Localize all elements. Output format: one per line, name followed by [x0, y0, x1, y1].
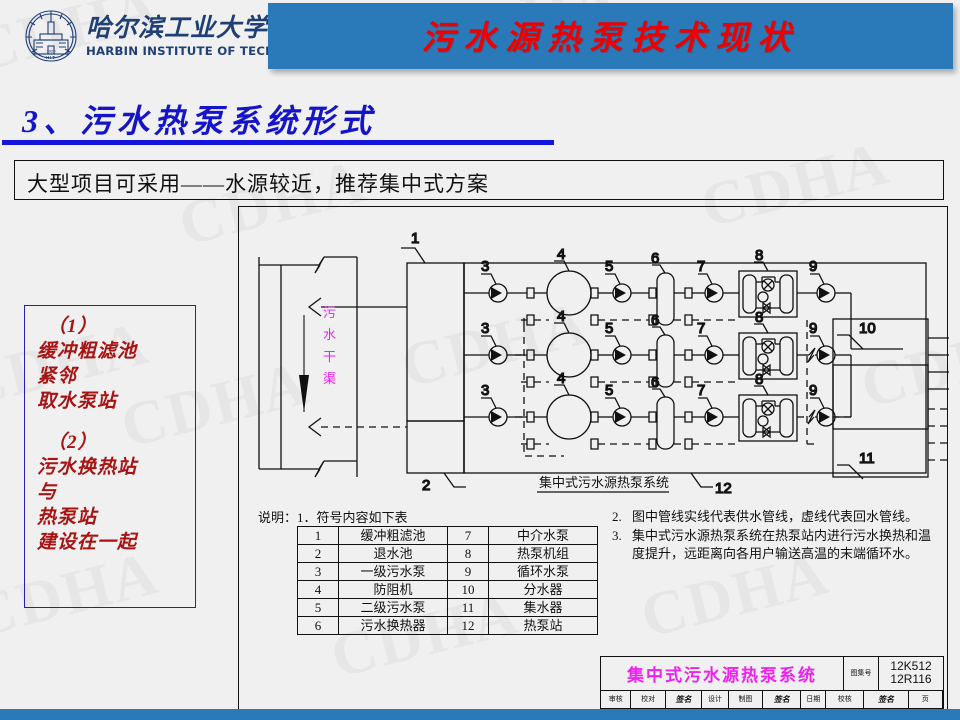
note-line: （1） — [25, 314, 195, 339]
tb-field-校对: 校对 — [631, 691, 665, 708]
callout-4: 4 — [557, 370, 565, 387]
callout-7: 7 — [697, 382, 705, 399]
left-note-box: （1） 缓冲粗滤池 紧邻 取水泵站 （2） 污水换热站 与 热泵站 建设在一起 — [24, 305, 196, 608]
symbol-legend-table: 1 缓冲粗滤池 7 中介水泵 2 退水池 8 热泵机组 3 一级污水泵 9 循环… — [297, 526, 598, 635]
legend-number: 3 — [298, 563, 339, 581]
legend-number: 12 — [448, 617, 489, 635]
svg-text:水: 水 — [323, 327, 336, 342]
legend-label: 中介水泵 — [489, 527, 598, 545]
page-title: 3、污水热泵系统形式 — [22, 96, 376, 142]
title-banner: 污水源热泵技术现状 — [268, 3, 953, 69]
callout-5: 5 — [605, 258, 613, 275]
note-line: 缓冲粗滤池 — [25, 339, 195, 364]
callout-6: 6 — [651, 374, 659, 391]
title-block-top-row: 集中式污水源热泵系统 图集号 12K512 12R116 — [601, 657, 943, 691]
table-row: 2 退水池 8 热泵机组 — [298, 545, 598, 563]
callout-8: 8 — [755, 371, 763, 388]
legend-number: 11 — [448, 599, 489, 617]
legend-caption: 说明：1．符号内容如下表 — [258, 507, 408, 526]
legend-label: 二级污水泵 — [339, 599, 448, 617]
legend-number: 9 — [448, 563, 489, 581]
title-banner-text: 污水源热泵技术现状 — [268, 11, 953, 59]
callout-8: 8 — [755, 247, 763, 264]
table-row: 5 二级污水泵 11 集水器 — [298, 599, 598, 617]
callout-3: 3 — [481, 382, 489, 399]
note-item: 3. 集中式污水源热泵系统在热泵站内进行污水换热和温度提升，远距离向各用户输送高… — [612, 527, 942, 563]
callout-6: 6 — [651, 312, 659, 329]
callout-4: 4 — [557, 308, 565, 325]
table-row: 1 缓冲粗滤池 7 中介水泵 — [298, 527, 598, 545]
tb-signature-3: 签名 — [864, 691, 908, 708]
logo-chinese-name: 哈尔滨工业大学 — [86, 8, 268, 44]
callout-6: 6 — [651, 250, 659, 267]
callout-3: 3 — [481, 320, 489, 337]
diagram-caption: 集中式污水源热泵系统 — [539, 475, 669, 490]
callout-11: 11 — [859, 450, 875, 467]
university-logo: 1920 HIT 哈尔滨工业大学 HARBIN INSTITUTE OF TEC… — [6, 4, 264, 72]
drawing-code-values: 12K512 12R116 — [879, 657, 943, 690]
callout-9: 9 — [809, 258, 817, 275]
system-schematic-diagram: 1 2 12 — [239, 207, 949, 711]
callout-3: 3 — [481, 258, 489, 275]
svg-text:干: 干 — [323, 349, 336, 364]
legend-label: 热泵站 — [489, 617, 598, 635]
tb-signature-2: 签名 — [763, 691, 801, 708]
note-line: （2） — [25, 430, 195, 455]
legend-number: 7 — [448, 527, 489, 545]
drawing-notes: 2. 图中管线实线代表供水管线，虚线代表回水管线。 3. 集中式污水源热泵系统在… — [612, 508, 942, 564]
tb-page-label: 页 — [909, 691, 943, 708]
note-line: 建设在一起 — [25, 530, 195, 555]
note-number: 3. — [612, 527, 632, 563]
tb-signature-1: 签名 — [666, 691, 702, 708]
drawing-code-label: 图集号 — [844, 657, 879, 690]
callout-5: 5 — [605, 382, 613, 399]
tb-field-日期: 日期 — [801, 691, 826, 708]
channel-label-char: 污 — [323, 305, 336, 320]
note-line: 污水换热站 — [25, 455, 195, 480]
drawing-title-block: 集中式污水源热泵系统 图集号 12K512 12R116 审核 校对 签名 设计… — [600, 656, 944, 709]
table-row: 4 防阻机 10 分水器 — [298, 581, 598, 599]
callout-9: 9 — [809, 382, 817, 399]
note-number: 2. — [612, 508, 632, 526]
callout-5: 5 — [605, 320, 613, 337]
drawing-name: 集中式污水源热泵系统 — [601, 657, 844, 690]
legend-label: 热泵机组 — [489, 545, 598, 563]
legend-label: 缓冲粗滤池 — [339, 527, 448, 545]
legend-number: 1 — [298, 527, 339, 545]
legend-number: 10 — [448, 581, 489, 599]
legend-number: 2 — [298, 545, 339, 563]
legend-label: 污水换热器 — [339, 617, 448, 635]
legend-number: 6 — [298, 617, 339, 635]
tb-field-设计: 设计 — [702, 691, 729, 708]
crest-abbr: HIT — [46, 55, 56, 60]
subtitle-text: 大型项目可采用——水源较近，推荐集中式方案 — [27, 168, 489, 198]
legend-label: 集水器 — [489, 599, 598, 617]
note-item: 2. 图中管线实线代表供水管线，虚线代表回水管线。 — [612, 508, 942, 526]
legend-number: 8 — [448, 545, 489, 563]
note-line: 热泵站 — [25, 505, 195, 530]
legend-label: 防阻机 — [339, 581, 448, 599]
crest-year: 1920 — [47, 49, 57, 54]
legend-label: 分水器 — [489, 581, 598, 599]
hit-crest-icon: 1920 HIT — [20, 8, 82, 68]
callout-12: 12 — [715, 480, 732, 497]
callout-1: 1 — [411, 230, 419, 247]
note-text: 集中式污水源热泵系统在热泵站内进行污水换热和温度提升，远距离向各用户输送高温的末… — [632, 527, 942, 563]
note-line: 紧邻 — [25, 364, 195, 389]
legend-number: 5 — [298, 599, 339, 617]
legend-number: 4 — [298, 581, 339, 599]
table-row: 6 污水换热器 12 热泵站 — [298, 617, 598, 635]
callout-10: 10 — [859, 320, 876, 337]
subtitle-box: 大型项目可采用——水源较近，推荐集中式方案 — [14, 160, 944, 200]
title-block-bottom-row: 审核 校对 签名 设计 制图 签名 日期 校核 签名 页 19 — [601, 691, 943, 708]
table-row: 3 一级污水泵 9 循环水泵 — [298, 563, 598, 581]
legend-label: 退水池 — [339, 545, 448, 563]
code-line-2: 12R116 — [890, 673, 931, 686]
callout-4: 4 — [557, 246, 565, 263]
note-line: 取水泵站 — [25, 389, 195, 414]
callout-2: 2 — [422, 477, 430, 494]
svg-text:渠: 渠 — [323, 371, 336, 386]
bottom-accent-bar — [0, 709, 960, 720]
callout-7: 7 — [697, 258, 705, 275]
note-spacer — [25, 414, 195, 430]
note-line: 与 — [25, 480, 195, 505]
legend-label: 循环水泵 — [489, 563, 598, 581]
callout-9: 9 — [809, 320, 817, 337]
tb-field-制图: 制图 — [729, 691, 763, 708]
legend-label: 一级污水泵 — [339, 563, 448, 581]
tb-field-校核: 校核 — [826, 691, 864, 708]
note-text: 图中管线实线代表供水管线，虚线代表回水管线。 — [632, 508, 942, 526]
callout-7: 7 — [697, 320, 705, 337]
tb-field-审核: 审核 — [601, 691, 631, 708]
callout-8: 8 — [755, 309, 763, 326]
heading-divider — [2, 140, 554, 145]
